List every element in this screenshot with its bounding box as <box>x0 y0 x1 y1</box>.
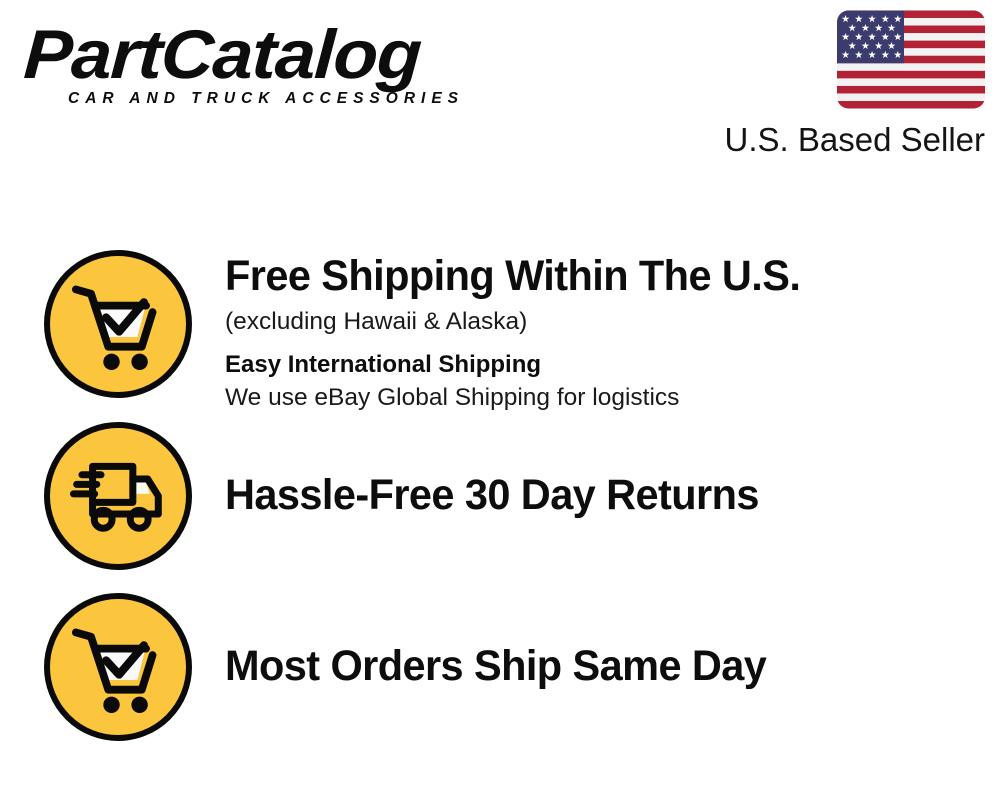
feature-subtext-strong: Easy International Shipping <box>225 350 974 379</box>
us-based-seller-badge: U.S. Based Seller <box>655 10 985 156</box>
feature-item: Most Orders Ship Same Day <box>44 593 974 741</box>
feature-text-block: Most Orders Ship Same Day <box>192 644 974 690</box>
promo-banner: PartCatalog CAR AND TRUCK ACCESSORIES <box>0 0 1000 800</box>
delivery-truck-icon <box>44 422 192 570</box>
shopping-cart-check-icon <box>44 250 192 398</box>
shopping-cart-check-icon <box>44 593 192 741</box>
feature-text-block: Free Shipping Within The U.S. (excluding… <box>192 250 974 413</box>
brand-wordmark: PartCatalog <box>22 22 524 88</box>
brand-logo: PartCatalog CAR AND TRUCK ACCESSORIES <box>24 22 494 108</box>
banner-header: PartCatalog CAR AND TRUCK ACCESSORIES <box>0 0 1000 175</box>
us-flag-icon <box>837 10 985 109</box>
feature-heading: Hassle-Free 30 Day Returns <box>225 473 948 519</box>
feature-subtext: (excluding Hawaii & Alaska) <box>225 307 974 337</box>
feature-heading: Most Orders Ship Same Day <box>225 644 948 690</box>
us-based-seller-label: U.S. Based Seller <box>655 123 985 156</box>
feature-item: Free Shipping Within The U.S. (excluding… <box>44 250 974 413</box>
feature-item: Hassle-Free 30 Day Returns <box>44 422 974 570</box>
feature-text-block: Hassle-Free 30 Day Returns <box>192 473 974 519</box>
feature-subtext-detail: We use eBay Global Shipping for logistic… <box>225 383 974 413</box>
feature-heading: Free Shipping Within The U.S. <box>225 254 948 300</box>
